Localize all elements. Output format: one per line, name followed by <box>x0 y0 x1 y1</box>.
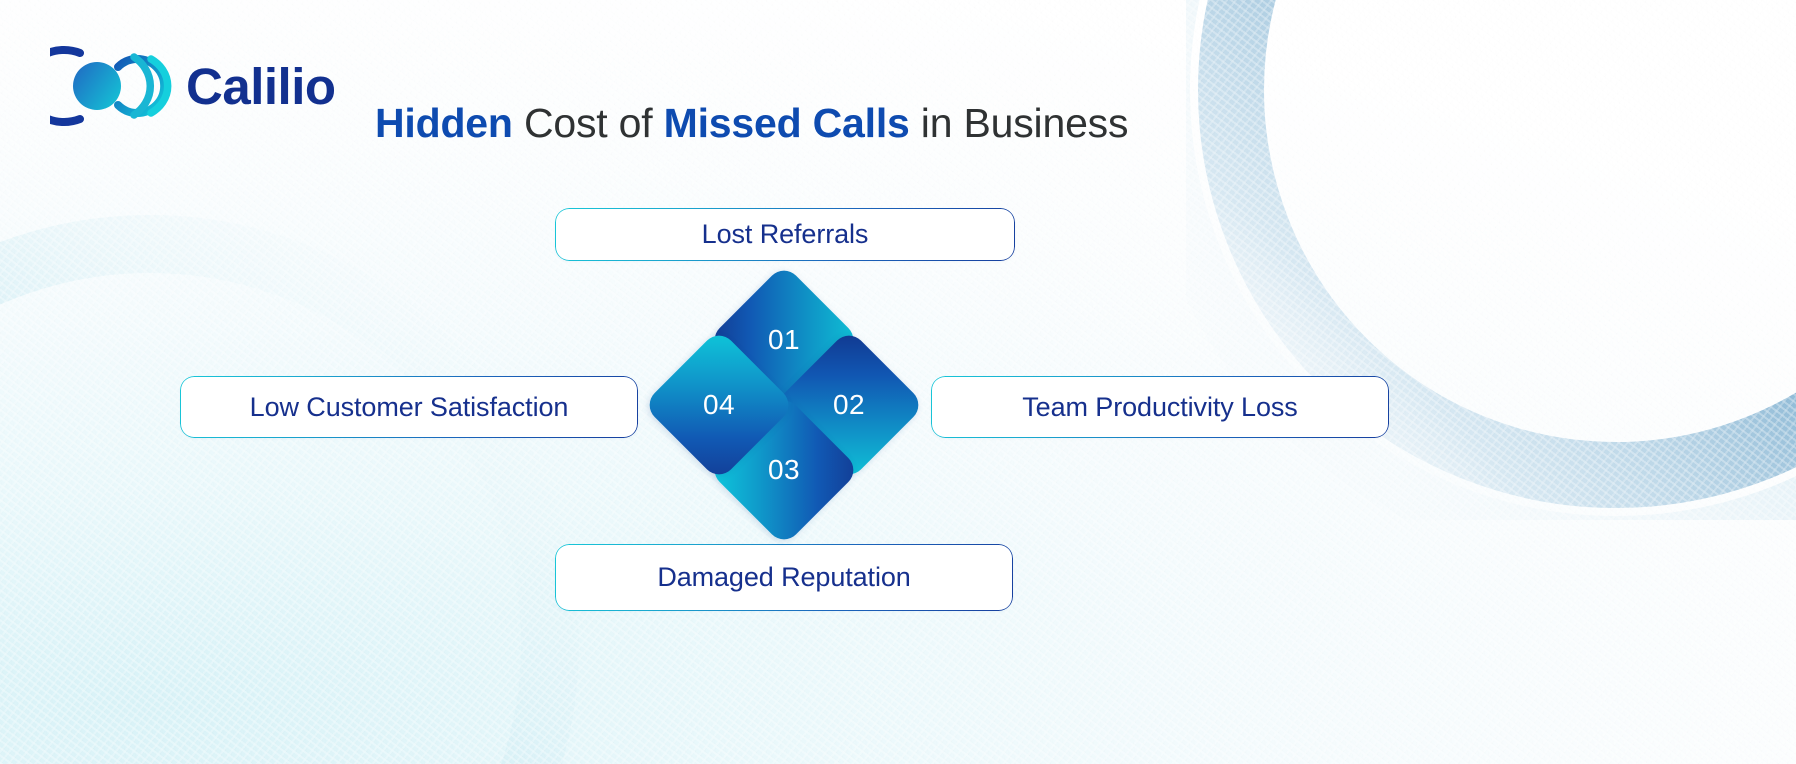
diamond-number: 01 <box>768 326 800 354</box>
label-text: Team Productivity Loss <box>1022 392 1297 423</box>
label-text: Lost Referrals <box>702 219 869 250</box>
diamond-number: 04 <box>703 391 735 419</box>
diamond-number: 02 <box>833 391 865 419</box>
label-box-lost-referrals[interactable]: Lost Referrals <box>556 209 1014 260</box>
diamond-diagram: Lost Referrals Low Customer Satisfaction… <box>0 0 1796 764</box>
label-text: Low Customer Satisfaction <box>250 392 569 423</box>
diamond-number: 03 <box>768 456 800 484</box>
diamond-cluster: 01 02 03 04 <box>665 286 903 524</box>
infographic-canvas: Calilio Hidden Cost of Missed Calls in B… <box>0 0 1796 764</box>
label-box-damaged-reputation[interactable]: Damaged Reputation <box>556 545 1012 610</box>
label-box-low-customer-satisfaction[interactable]: Low Customer Satisfaction <box>181 377 637 437</box>
label-box-team-productivity-loss[interactable]: Team Productivity Loss <box>932 377 1388 437</box>
label-text: Damaged Reputation <box>657 562 910 593</box>
